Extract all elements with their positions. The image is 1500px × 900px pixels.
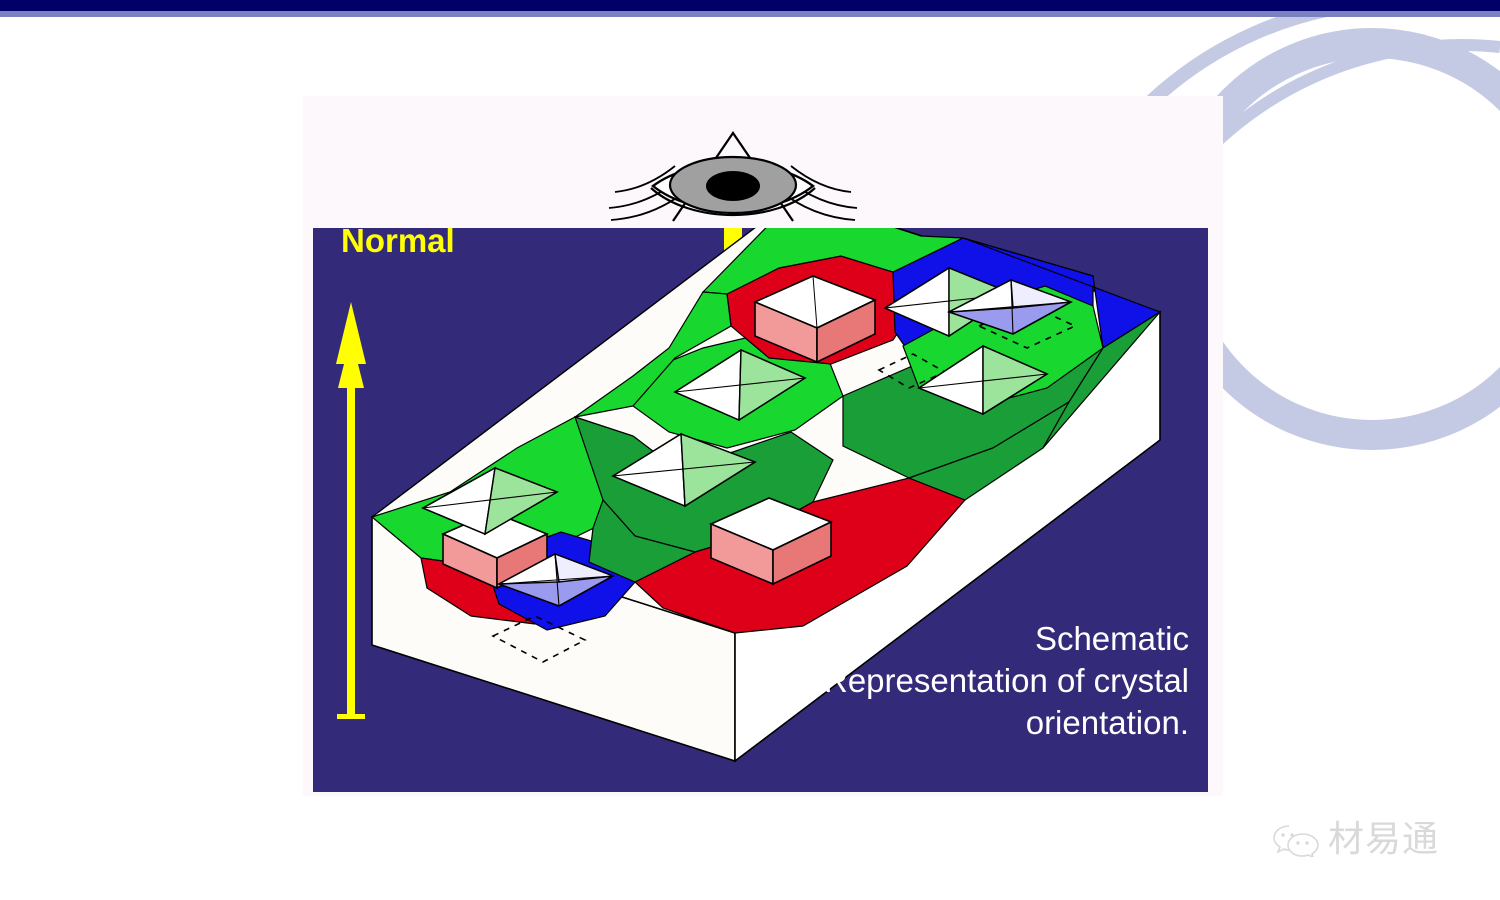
slide-canvas: Sample Normal: [0, 0, 1500, 900]
caption-line-2: Representation of crystal: [824, 662, 1189, 699]
wechat-watermark: 材易通: [1272, 812, 1472, 868]
decor-ring: [1176, 43, 1500, 435]
slide-top-bar-light: [0, 11, 1500, 17]
eye-pupil: [706, 171, 760, 201]
caption-line-3: orientation.: [1026, 704, 1189, 741]
slide-top-bar-dark: [0, 0, 1500, 11]
wechat-icon: [1272, 823, 1320, 857]
schematic-figure: Sample Normal: [303, 96, 1223, 796]
watermark-label: 材易通: [1328, 822, 1439, 858]
crystal-orientation-schematic: Sample Normal: [303, 96, 1223, 796]
caption-line-1: Schematic: [1035, 620, 1189, 657]
